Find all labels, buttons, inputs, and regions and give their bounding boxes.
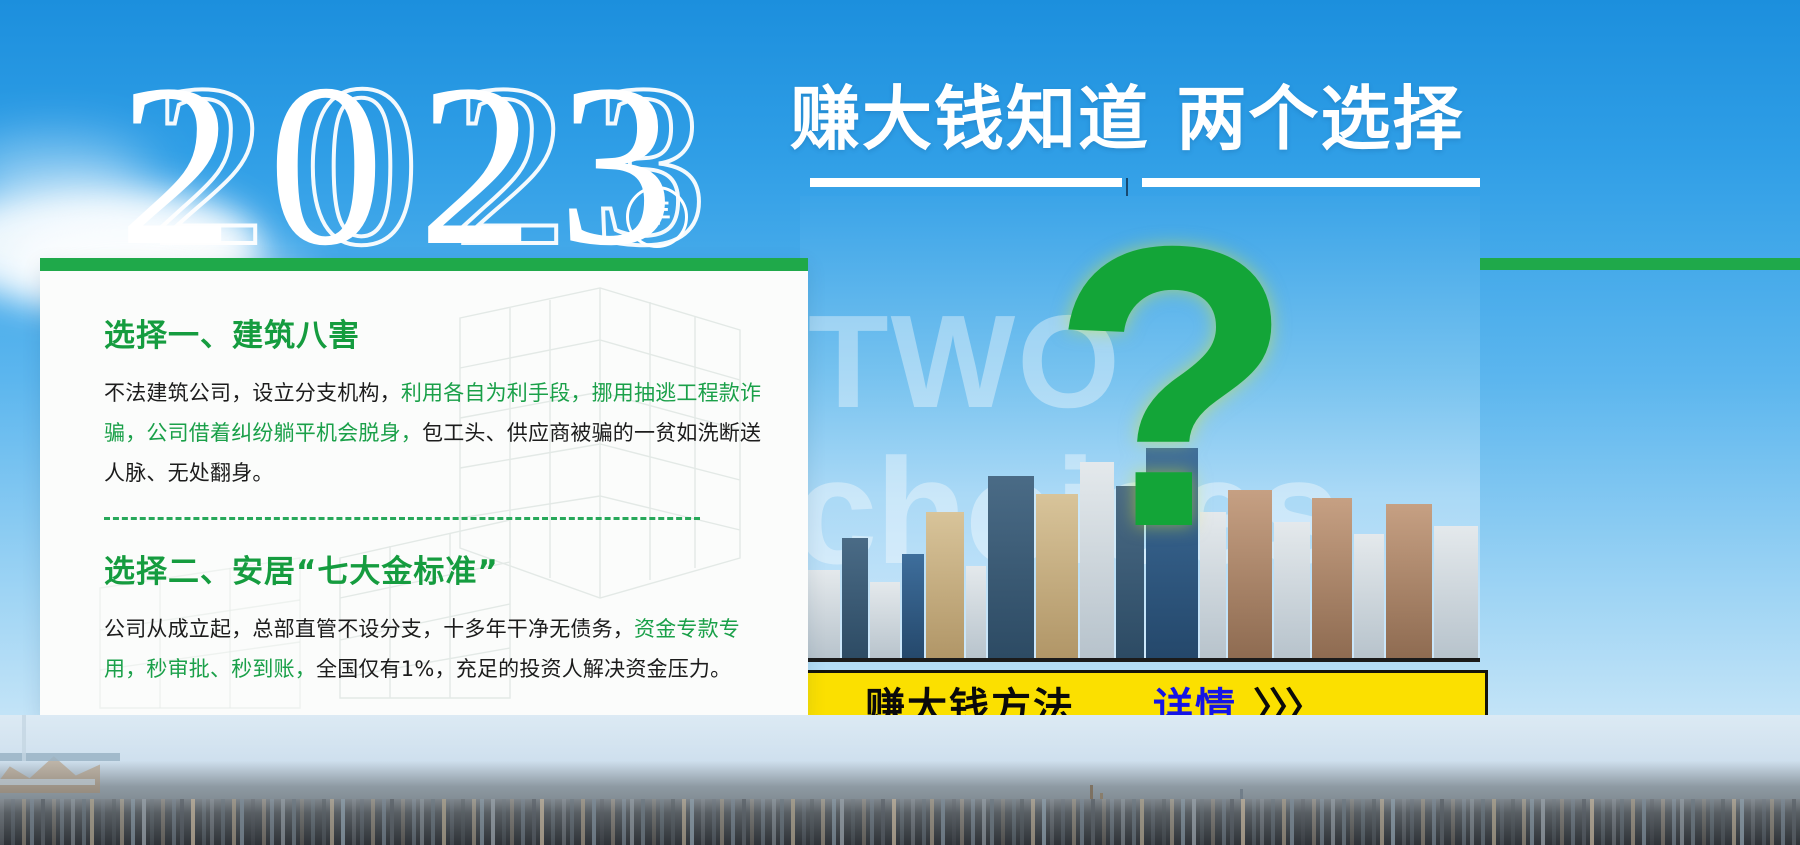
water-streak [1631, 799, 1635, 845]
water-streak [1620, 799, 1624, 845]
year-digit-outline: 0 [304, 58, 414, 273]
water-streak [1200, 799, 1204, 845]
promo-poster: 2 2 0 0 2 2 3 3 年 赚大钱知道 两个选择 TWO choices [0, 0, 1800, 845]
water-streak [1451, 799, 1455, 845]
water-streak [971, 799, 975, 845]
bridge-deck-lower [0, 779, 95, 785]
water-streak [1020, 799, 1024, 845]
water-streak [630, 799, 634, 845]
water-streak [1402, 799, 1406, 845]
water-streak [442, 799, 446, 845]
water-streak [761, 799, 765, 845]
water-streak [52, 799, 56, 845]
water-streak [532, 799, 536, 845]
water-streak [360, 799, 364, 845]
water-streak [1290, 799, 1294, 845]
water-streak [60, 799, 64, 845]
water-streak [1470, 799, 1474, 845]
water-streak [1211, 799, 1215, 845]
water-streak [11, 799, 15, 845]
water-streak [540, 799, 544, 845]
water-streak [821, 799, 825, 845]
water-streak [1061, 799, 1065, 845]
water-streak [1271, 799, 1275, 845]
water-streak [1012, 799, 1016, 845]
water-streak [292, 799, 296, 845]
water-streak [690, 799, 694, 845]
city-baseline [800, 658, 1480, 662]
water-streak [701, 799, 705, 845]
water-streak [382, 799, 386, 845]
water-streak [772, 799, 776, 845]
water-streak [570, 799, 574, 845]
water-streak [660, 799, 664, 845]
bridge-pylon [22, 715, 26, 761]
building [902, 554, 924, 662]
section-divider [104, 517, 700, 520]
water-streak [840, 799, 844, 845]
water-streak [622, 799, 626, 845]
water-streak [240, 799, 244, 845]
headline-rule-right [1142, 178, 1480, 187]
water-streak [161, 799, 165, 845]
water-streak [1721, 799, 1725, 845]
water-streak [1151, 799, 1155, 845]
water-streak [1481, 799, 1485, 845]
water-streak [810, 799, 814, 845]
water-streak [731, 799, 735, 845]
water-streak [472, 799, 476, 845]
water-streak [960, 799, 964, 845]
card-content: 选择一、建筑八害 不法建筑公司，设立分支机构，利用各自为利手段，挪用抽逃工程款诈… [104, 310, 764, 689]
year-digit: 2 [418, 58, 528, 273]
building [842, 538, 868, 662]
section-2-part-3: 全国仅有1%，充足的投资人解决资金压力。 [316, 657, 731, 681]
water-streak [1312, 799, 1316, 845]
section-2-part-1: 公司从成立起，总部直管不设分支，十多年干净无债务， [104, 617, 634, 641]
water-streak [982, 799, 986, 845]
page-title: 赚大钱知道 两个选择 [790, 80, 1490, 158]
year-suffix-badge: 年 [626, 186, 688, 248]
water-streak [720, 799, 724, 845]
water-streak [952, 799, 956, 845]
water-streak [101, 799, 105, 845]
water-streak [802, 799, 806, 845]
bridge-deck [0, 753, 120, 761]
water-streak [1181, 799, 1185, 845]
water-streak [300, 799, 304, 845]
water-streak [251, 799, 255, 845]
water-streak [1230, 799, 1234, 845]
water-streak [1792, 799, 1796, 845]
water-streak [1661, 799, 1665, 845]
water-streak [1380, 799, 1384, 845]
water-streak [1560, 799, 1564, 845]
building [1434, 526, 1478, 662]
water-streak [510, 799, 514, 845]
bottom-city-strip [0, 715, 1800, 845]
water-streak [1350, 799, 1354, 845]
section-2-heading: 选择二、安居“七大金标准” [104, 546, 764, 591]
water-streak [862, 799, 866, 845]
water-streak [202, 799, 206, 845]
water-streak [371, 799, 375, 845]
water-streak [180, 799, 184, 845]
water-streak [71, 799, 75, 845]
water-streak [1462, 799, 1466, 845]
water-streak [780, 799, 784, 845]
water-streak [671, 799, 675, 845]
water-streak [352, 799, 356, 845]
water-streak [461, 799, 465, 845]
water-streak [592, 799, 596, 845]
water-streak [1601, 799, 1605, 845]
water-streak [1410, 799, 1414, 845]
water-streak [1072, 799, 1076, 845]
water-streak [930, 799, 934, 845]
water-reflection [0, 799, 1800, 845]
water-streak [1440, 799, 1444, 845]
water-streak [142, 799, 146, 845]
choices-card: 选择一、建筑八害 不法建筑公司，设立分支机构，利用各自为利手段，挪用抽逃工程款诈… [40, 258, 808, 718]
headline-rule-left [810, 178, 1122, 187]
water-streak [1042, 799, 1046, 845]
water-streak [1642, 799, 1646, 845]
water-streak [1372, 799, 1376, 845]
section-1-part-1: 不法建筑公司，设立分支机构， [104, 381, 401, 405]
water-streak [232, 799, 236, 845]
water-streak [1091, 799, 1095, 845]
water-streak [652, 799, 656, 845]
green-edge-strip [1480, 258, 1800, 270]
water-streak [502, 799, 506, 845]
water-streak [491, 799, 495, 845]
water-streak [1432, 799, 1436, 845]
water-streak [1781, 799, 1785, 845]
water-streak [551, 799, 555, 845]
water-streak [742, 799, 746, 845]
water-streak [1222, 799, 1226, 845]
water-streak [1541, 799, 1545, 845]
water-streak [1260, 799, 1264, 845]
water-streak [851, 799, 855, 845]
question-panel: TWO choices ? [800, 196, 1480, 662]
water-streak [1770, 799, 1774, 845]
water-streak [1132, 799, 1136, 845]
water-streak [1192, 799, 1196, 845]
water-streak [1530, 799, 1534, 845]
water-streak [0, 799, 4, 845]
water-streak [911, 799, 915, 845]
water-streak [1590, 799, 1594, 845]
water-streak [210, 799, 214, 845]
water-streak [1162, 799, 1166, 845]
water-streak [1511, 799, 1515, 845]
water-streak [881, 799, 885, 845]
water-streak [1762, 799, 1766, 845]
water-streak [1102, 799, 1106, 845]
section-1-heading: 选择一、建筑八害 [104, 310, 764, 355]
water-streak [262, 799, 266, 845]
water-streak [322, 799, 326, 845]
building [870, 582, 900, 662]
water-streak [641, 799, 645, 845]
water-streak [1241, 799, 1245, 845]
question-mark-icon: ? [1050, 222, 1350, 582]
water-streak [990, 799, 994, 845]
water-streak [1140, 799, 1144, 845]
water-streak [1612, 799, 1616, 845]
water-streak [1740, 799, 1744, 845]
water-streak [1001, 799, 1005, 845]
water-streak [420, 799, 424, 845]
water-streak [131, 799, 135, 845]
section-1-body: 不法建筑公司，设立分支机构，利用各自为利手段，挪用抽逃工程款诈骗，公司借着纠纷躺… [104, 373, 764, 493]
water-streak [412, 799, 416, 845]
water-streak [330, 799, 334, 845]
water-streak [281, 799, 285, 845]
water-streak [581, 799, 585, 845]
water-streak [562, 799, 566, 845]
water-streak [1552, 799, 1556, 845]
water-streak [1301, 799, 1305, 845]
water-streak [270, 799, 274, 845]
building [1386, 504, 1432, 662]
water-streak [311, 799, 315, 845]
year-digit: 0 [268, 58, 378, 273]
building [806, 570, 840, 662]
water-streak [221, 799, 225, 845]
water-streak [1031, 799, 1035, 845]
water-streak [1421, 799, 1425, 845]
water-streak [390, 799, 394, 845]
water-streak [1522, 799, 1526, 845]
water-streak [611, 799, 615, 845]
water-streak [682, 799, 686, 845]
water-streak [120, 799, 124, 845]
water-streak [791, 799, 795, 845]
water-streak [431, 799, 435, 845]
water-streak [1320, 799, 1324, 845]
building [1354, 534, 1384, 662]
water-streak [1391, 799, 1395, 845]
water-streak [1710, 799, 1714, 845]
water-streak [1732, 799, 1736, 845]
water-streak [1170, 799, 1174, 845]
water-streak [90, 799, 94, 845]
water-streak [712, 799, 716, 845]
water-streak [1121, 799, 1125, 845]
water-streak [172, 799, 176, 845]
water-streak [1691, 799, 1695, 845]
water-streak [922, 799, 926, 845]
water-streak [191, 799, 195, 845]
water-streak [1282, 799, 1286, 845]
water-streak [1331, 799, 1335, 845]
water-streak [870, 799, 874, 845]
building [926, 512, 964, 662]
water-streak [1110, 799, 1114, 845]
water-streak [22, 799, 26, 845]
water-streak [1672, 799, 1676, 845]
water-streak [341, 799, 345, 845]
water-streak [1492, 799, 1496, 845]
water-streak [1582, 799, 1586, 845]
water-streak [1080, 799, 1084, 845]
water-streak [600, 799, 604, 845]
water-streak [150, 799, 154, 845]
water-streak [30, 799, 34, 845]
water-streak [892, 799, 896, 845]
water-streak [1361, 799, 1365, 845]
water-streak [112, 799, 116, 845]
water-streak [1571, 799, 1575, 845]
water-streak [1252, 799, 1256, 845]
water-streak [480, 799, 484, 845]
water-streak [1751, 799, 1755, 845]
water-streak [1050, 799, 1054, 845]
water-streak [1500, 799, 1504, 845]
water-streak [1680, 799, 1684, 845]
water-streak [750, 799, 754, 845]
water-streak [1650, 799, 1654, 845]
water-streak [521, 799, 525, 845]
building [988, 476, 1034, 662]
building [966, 566, 986, 662]
water-streak [900, 799, 904, 845]
water-streak [401, 799, 405, 845]
water-streak [450, 799, 454, 845]
water-streak [82, 799, 86, 845]
year-digit-outline: 2 [453, 58, 563, 273]
water-streak [41, 799, 45, 845]
water-streak [1702, 799, 1706, 845]
water-streak [1342, 799, 1346, 845]
section-2-body: 公司从成立起，总部直管不设分支，十多年干净无债务，资金专款专用，秒审批、秒到账，… [104, 609, 764, 689]
water-streak [941, 799, 945, 845]
water-streak [832, 799, 836, 845]
